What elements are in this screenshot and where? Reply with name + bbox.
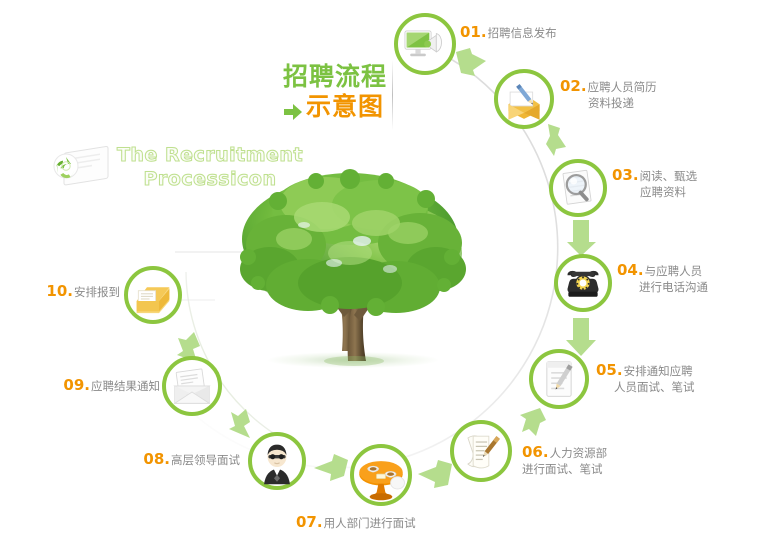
arrow-05-to-06 xyxy=(516,406,552,444)
step-text-06-line-2: 进行面试、笔试 xyxy=(522,461,607,477)
step-number-05: 05. xyxy=(596,361,623,379)
telephone-icon[interactable] xyxy=(554,254,612,312)
monitor-megaphone-icon[interactable] xyxy=(394,13,456,75)
arrow-01-to-02 xyxy=(452,44,492,78)
envelope-pencil-icon[interactable] xyxy=(494,69,554,129)
arrow-right-icon xyxy=(283,98,303,116)
mail-envelope-icon[interactable] xyxy=(162,356,222,416)
step-number-01: 01. xyxy=(460,23,487,41)
step-text-04-line-2: 进行电话沟通 xyxy=(617,279,708,295)
businessman-icon[interactable] xyxy=(248,432,306,490)
arrow-07-to-08 xyxy=(312,452,352,484)
step-text-01: 招聘信息发布 xyxy=(488,26,557,40)
recruitment-process-diagram: 招聘流程 示意图 The Recruitm xyxy=(0,0,760,549)
step-label-06: 06.人力资源部 进行面试、笔试 xyxy=(522,444,607,477)
step-label-10: 10.安排报到 xyxy=(0,284,120,300)
step-number-10: 10. xyxy=(46,282,73,300)
document-magnifier-icon[interactable] xyxy=(549,159,607,217)
step-text-06-line-1: 人力资源部 xyxy=(550,446,608,460)
step-number-08: 08. xyxy=(143,450,170,468)
step-text-07: 用人部门进行面试 xyxy=(324,516,416,530)
step-number-06: 06. xyxy=(522,443,549,461)
recycle-globe-card-icon xyxy=(46,140,118,196)
clipboard-pen-icon[interactable] xyxy=(529,349,589,409)
scroll-pen-icon[interactable] xyxy=(450,420,512,482)
step-text-05-line-2: 人员面试、笔试 xyxy=(596,379,695,395)
step-text-03-line-2: 应聘资料 xyxy=(612,184,697,200)
wordmark-line-1: The Recruitment xyxy=(110,143,310,167)
title-divider xyxy=(392,60,393,130)
step-text-10: 安排报到 xyxy=(74,285,120,299)
step-text-02-line-2: 资料投递 xyxy=(560,95,657,111)
open-book-folder-icon[interactable] xyxy=(124,266,182,324)
arrow-02-to-03 xyxy=(540,122,574,162)
step-text-05-line-1: 安排通知应聘 xyxy=(624,364,693,378)
step-number-03: 03. xyxy=(612,166,639,184)
step-number-09: 09. xyxy=(63,376,90,394)
step-number-07: 07. xyxy=(296,513,323,531)
step-label-05: 05.安排通知应聘 人员面试、笔试 xyxy=(596,362,695,395)
step-label-07: 07.用人部门进行面试 xyxy=(296,515,416,531)
step-label-03: 03.阅读、甄选 应聘资料 xyxy=(612,167,697,200)
arrow-08-to-09 xyxy=(218,406,256,442)
step-label-04: 04.与应聘人员 进行电话沟通 xyxy=(617,262,708,295)
diagram-title: 招聘流程 示意图 xyxy=(283,62,393,122)
step-text-09: 应聘结果通知 xyxy=(91,379,160,393)
title-line-2: 示意图 xyxy=(283,92,393,122)
step-label-09: 09.应聘结果通知 xyxy=(0,378,160,394)
step-text-02-line-1: 应聘人员简历 xyxy=(588,80,657,94)
step-label-01: 01.招聘信息发布 xyxy=(460,25,557,41)
coffee-table-icon[interactable] xyxy=(350,444,412,506)
arrow-06-to-07 xyxy=(414,458,456,490)
step-number-04: 04. xyxy=(617,261,644,279)
title-line-2-text: 示意图 xyxy=(306,92,384,122)
english-wordmark: The Recruitment Processicon xyxy=(110,143,310,191)
step-number-02: 02. xyxy=(560,77,587,95)
step-label-08: 08.高层领导面试 xyxy=(20,452,240,468)
step-text-04-line-1: 与应聘人员 xyxy=(645,264,703,278)
title-line-1: 招聘流程 xyxy=(283,62,393,92)
step-text-08: 高层领导面试 xyxy=(171,453,240,467)
arrow-03-to-04 xyxy=(567,218,597,258)
step-label-02: 02.应聘人员简历 资料投递 xyxy=(560,78,657,111)
wordmark-line-2: Processicon xyxy=(110,167,310,191)
step-text-03-line-1: 阅读、甄选 xyxy=(640,169,698,183)
center-tree-illustration xyxy=(230,165,470,370)
